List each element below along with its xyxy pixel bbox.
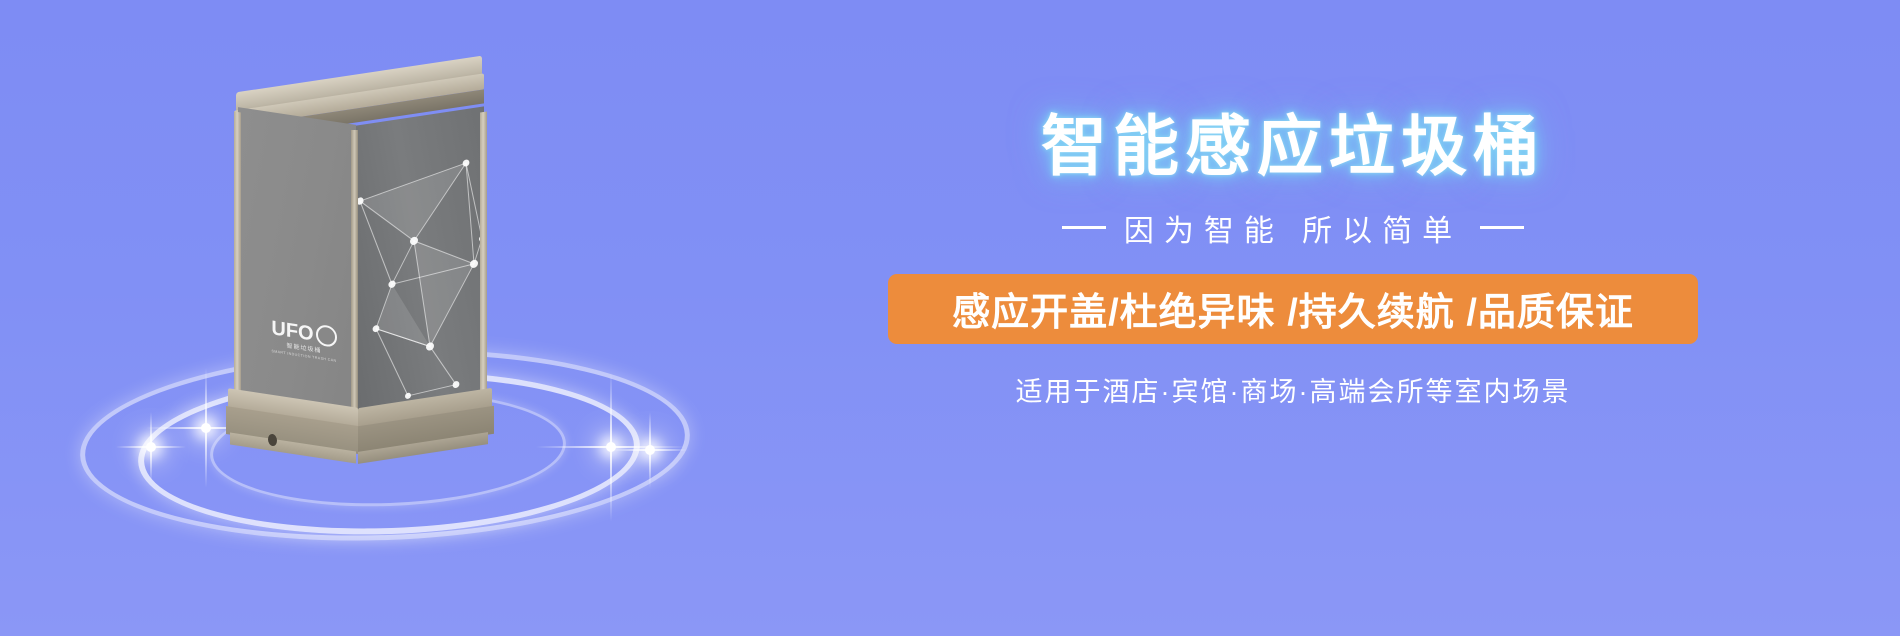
circle-icon [316, 324, 337, 348]
product-illustration: UFO 智能垃圾桶 SMART INDUCTION TRASH CAN [60, 20, 740, 580]
sensor-icon [268, 433, 277, 446]
network-graphic [356, 142, 484, 411]
corner-trim-right [480, 111, 487, 412]
corner-trim-center [351, 130, 358, 426]
feature-bar: 感应开盖/杜绝异味 /持久续航 /品质保证 [888, 274, 1698, 344]
rule-right [1480, 226, 1524, 229]
headline: 智能感应垃圾桶 [888, 110, 1698, 184]
subline-row: 因为智能 所以简单 [888, 206, 1698, 250]
subline-text: 因为智能 所以简单 [1124, 206, 1462, 250]
body-panel-left [238, 107, 356, 415]
brand-logo-text: UFO [271, 318, 313, 344]
rule-left [1062, 226, 1106, 229]
scene-line: 适用于酒店·宾馆·商场·高端会所等室内场景 [888, 370, 1698, 409]
body-panel-right [356, 106, 484, 415]
feature-bar-text: 感应开盖/杜绝异味 /持久续航 /品质保证 [952, 281, 1634, 336]
product-banner: UFO 智能垃圾桶 SMART INDUCTION TRASH CAN 智能感应… [0, 0, 1900, 636]
corner-trim-left [234, 111, 241, 412]
trash-can-product: UFO 智能垃圾桶 SMART INDUCTION TRASH CAN [220, 50, 500, 430]
copy-block: 智能感应垃圾桶 因为智能 所以简单 感应开盖/杜绝异味 /持久续航 /品质保证 … [888, 110, 1698, 409]
